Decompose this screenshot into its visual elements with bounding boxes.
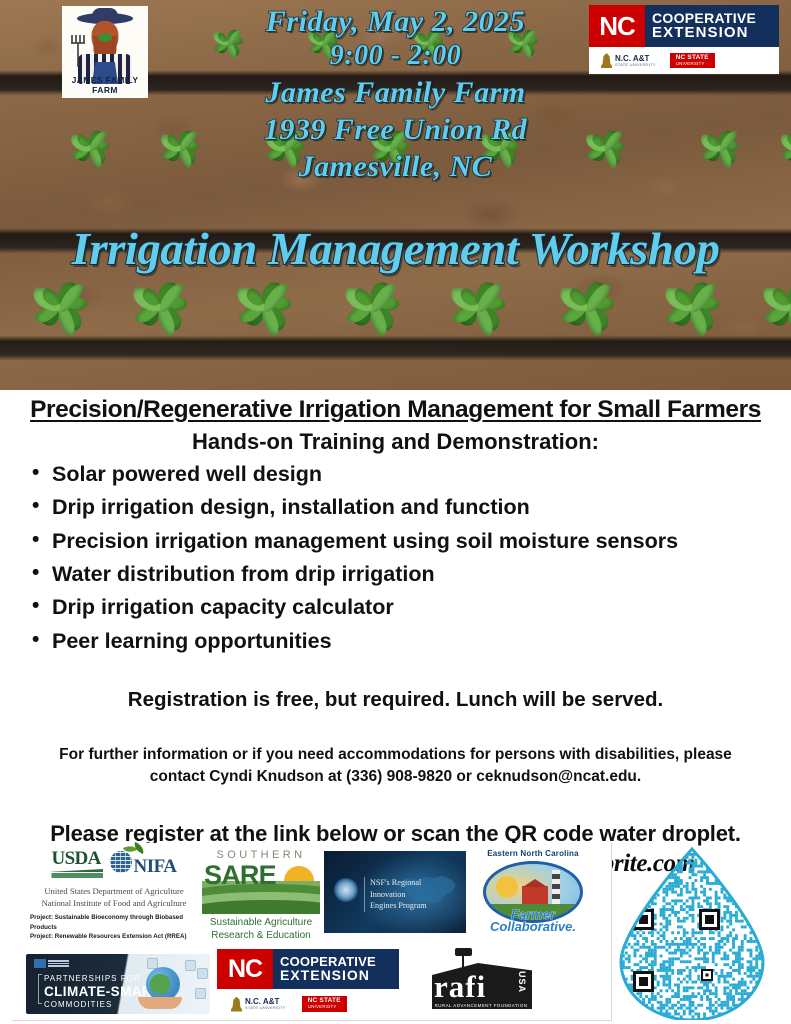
sponsor-row-bottom: PARTNERSHIPS FOR CLIMATE-SMART COMMODITI… bbox=[12, 947, 611, 1021]
crop-tile-icon bbox=[185, 960, 196, 971]
nsf-engines-logo: NSF's Regional Innovation Engines Progra… bbox=[320, 843, 470, 933]
usda-nifa-logo: USDA NIFA United States Department of Ag… bbox=[12, 843, 202, 941]
ncsu-subtitle: UNIVERSITY bbox=[308, 1005, 341, 1010]
contact-line-1: For further information or if you need a… bbox=[24, 744, 767, 766]
encfc-top-arc-text: Eastern North Carolina bbox=[477, 849, 589, 858]
eastern-nc-farmers-collaborative-logo: Eastern North Carolina Farmer Collaborat… bbox=[470, 843, 596, 935]
extension-wordmark: COOPERATIVE EXTENSION bbox=[645, 5, 779, 47]
ncat-subtitle: STATE UNIVERSITY bbox=[615, 63, 656, 67]
page-title: Irrigation Management Workshop bbox=[0, 222, 791, 275]
hands-icon bbox=[138, 997, 182, 1009]
encfc-word-collaborative: Collaborative. bbox=[477, 921, 589, 934]
topic-item: Water distribution from drip irrigation bbox=[28, 562, 781, 587]
nc-monogram: NC bbox=[217, 949, 273, 989]
topic-item: Drip irrigation design, installation and… bbox=[28, 495, 781, 520]
green-sprig-icon bbox=[98, 33, 112, 42]
section-heading: Precision/Regenerative Irrigation Manage… bbox=[10, 396, 781, 424]
cs-line-1: PARTNERSHIPS FOR bbox=[44, 974, 161, 983]
topic-item: Precision irrigation management using so… bbox=[28, 529, 781, 554]
project-line-1: Project: Sustainable Bioeconomy through … bbox=[30, 913, 202, 932]
usda-agency-line-1: United States Department of Agriculture bbox=[26, 885, 202, 897]
nsf-line-3: Engines Program bbox=[370, 900, 427, 912]
hero-photo-banner: JAMES FAMILY FARM NC COOPERATIVE EXTENSI… bbox=[0, 0, 791, 390]
crop-tile-icon bbox=[195, 988, 206, 999]
nc-state-logo: NC STATE UNIVERSITY bbox=[670, 53, 715, 69]
registration-note: Registration is free, but required. Lunc… bbox=[10, 688, 781, 712]
usda-wordmark: USDA bbox=[51, 849, 103, 868]
rafi-usa-logo: rafi USA RURAL ADVANCEMENT FOUNDATION IN… bbox=[406, 951, 556, 1017]
qr-code-water-droplet[interactable] bbox=[607, 845, 777, 1020]
climate-smart-commodities-logo: PARTNERSHIPS FOR CLIMATE-SMART COMMODITI… bbox=[12, 954, 210, 1014]
extension-word-cooperative: COOPERATIVE bbox=[280, 955, 399, 969]
nsf-seal-icon bbox=[334, 878, 358, 902]
content-section: Precision/Regenerative Irrigation Manage… bbox=[0, 396, 791, 878]
globe-icon bbox=[110, 851, 132, 873]
usda-agency-line-2: National Institute of Food and Agricultu… bbox=[26, 897, 202, 909]
flyer-page: JAMES FAMILY FARM NC COOPERATIVE EXTENSI… bbox=[0, 0, 791, 1024]
ncsu-subtitle: UNIVERSITY bbox=[676, 62, 709, 67]
nc-at-logo: N.C. A&T STATE UNIVERSITY bbox=[601, 53, 656, 68]
southern-sare-logo: SOUTHERN SARE Sustainable Agriculture Re… bbox=[202, 843, 320, 942]
sare-tagline-line-1: Sustainable Agriculture bbox=[202, 917, 320, 930]
sare-wordmark: SARE bbox=[204, 862, 276, 889]
globe-with-plants-icon bbox=[146, 967, 180, 1001]
nsf-line-2: Innovation bbox=[370, 889, 427, 901]
rafi-wordmark: rafi bbox=[434, 971, 486, 1002]
sare-tagline: Sustainable Agriculture Research & Educa… bbox=[202, 917, 320, 942]
nc-monogram: NC bbox=[589, 5, 645, 47]
farm-logo-name: JAMES FAMILY FARM bbox=[62, 75, 148, 95]
bracket-icon bbox=[38, 974, 42, 1004]
rafi-usa-label: USA bbox=[517, 971, 527, 993]
nc-at-logo: N.C. A&T STATE UNIVERSITY bbox=[231, 997, 286, 1012]
windmill-icon bbox=[462, 951, 464, 969]
extension-word-extension: EXTENSION bbox=[652, 25, 779, 41]
topic-item: Peer learning opportunities bbox=[28, 629, 781, 654]
contact-info: For further information or if you need a… bbox=[10, 744, 781, 788]
nifa-mark: NIFA bbox=[110, 851, 176, 876]
sponsor-logo-board: USDA NIFA United States Department of Ag… bbox=[12, 843, 612, 1021]
usda-agency-lines: United States Department of Agriculture … bbox=[26, 885, 202, 909]
event-city: Jamesville, NC bbox=[0, 151, 791, 183]
sare-tagline-line-2: Research & Education bbox=[202, 930, 320, 943]
extension-word-extension: EXTENSION bbox=[280, 968, 399, 983]
nsf-line-1: NSF's Regional bbox=[370, 877, 427, 889]
nifa-wordmark: NIFA bbox=[133, 857, 176, 876]
pitchfork-icon bbox=[70, 34, 87, 68]
lighthouse-icon bbox=[552, 870, 560, 904]
sponsor-row-top: USDA NIFA United States Department of Ag… bbox=[12, 843, 611, 947]
nc-state-logo: NC STATE UNIVERSITY bbox=[302, 996, 347, 1012]
nc-cooperative-extension-logo-footer: NC COOPERATIVE EXTENSION N.C. A&T STATE … bbox=[210, 949, 406, 1019]
topic-item: Solar powered well design bbox=[28, 462, 781, 487]
extension-word-cooperative: COOPERATIVE bbox=[652, 11, 779, 26]
crop-tile-icon bbox=[197, 968, 208, 979]
rafi-full-name: RURAL ADVANCEMENT FOUNDATION INTERNATION… bbox=[422, 1003, 540, 1013]
usda-project-lines: Project: Sustainable Bioeconomy through … bbox=[26, 913, 202, 941]
extension-partner-universities: N.C. A&T STATE UNIVERSITY NC STATE UNIVE… bbox=[217, 989, 399, 1019]
usda-small-mark-icon bbox=[34, 959, 69, 968]
sun-icon bbox=[284, 866, 314, 881]
event-street: 1939 Free Union Rd bbox=[0, 114, 791, 146]
encfc-bottom-text: Farmer Collaborative. bbox=[477, 909, 589, 934]
extension-partner-universities: N.C. A&T STATE UNIVERSITY NC STATE UNIVE… bbox=[589, 47, 779, 74]
leaf-icon bbox=[132, 842, 146, 854]
project-line-2: Project: Renewable Resources Extension A… bbox=[30, 932, 202, 941]
nsf-program-name: NSF's Regional Innovation Engines Progra… bbox=[364, 877, 427, 912]
nc-cooperative-extension-logo-header: NC COOPERATIVE EXTENSION N.C. A&T STATE … bbox=[589, 5, 779, 74]
section-subheading: Hands-on Training and Demonstration: bbox=[10, 429, 781, 455]
ncat-subtitle: STATE UNIVERSITY bbox=[245, 1006, 286, 1010]
topics-list: Solar powered well designDrip irrigation… bbox=[28, 462, 781, 654]
extension-logo-bar: NC COOPERATIVE EXTENSION bbox=[589, 5, 779, 47]
sun-icon bbox=[496, 876, 518, 898]
contact-line-2: contact Cyndi Knudson at (336) 908-9820 … bbox=[24, 766, 767, 788]
bell-tower-icon bbox=[601, 53, 612, 68]
james-family-farm-logo: JAMES FAMILY FARM bbox=[62, 6, 148, 98]
usda-swoosh-icon bbox=[51, 869, 103, 878]
usda-mark: USDA bbox=[51, 849, 103, 878]
topic-item: Drip irrigation capacity calculator bbox=[28, 595, 781, 620]
bell-tower-icon bbox=[231, 997, 242, 1012]
